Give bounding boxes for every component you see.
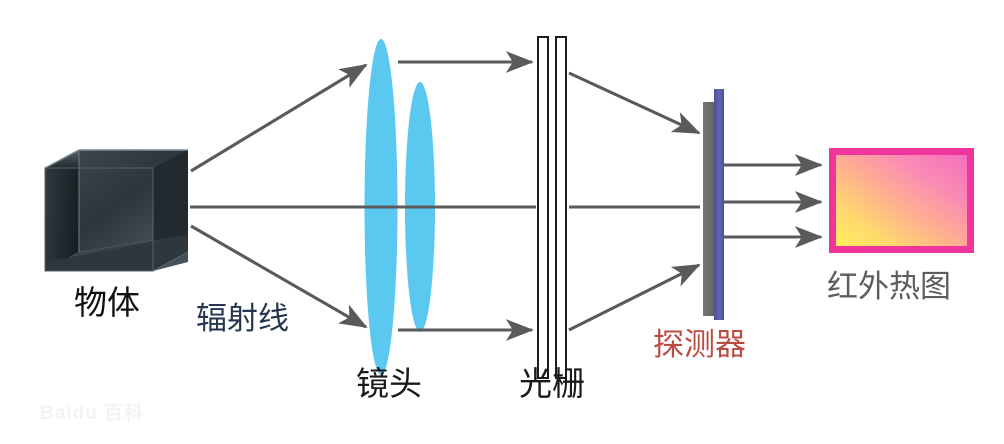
thermal-image	[829, 148, 974, 253]
object-cube	[45, 150, 188, 271]
label-detector: 探测器	[653, 329, 746, 360]
infrared-imaging-diagram	[0, 0, 1004, 444]
thermal-image-gradient	[836, 155, 967, 246]
diagram-canvas: 物体 辐射线 镜头 光栅 探测器 红外热图 Baidu 百科	[0, 0, 1004, 444]
ray-group-grating-detector	[569, 73, 700, 330]
grating-plate-1	[538, 37, 548, 378]
label-radiation: 辐射线	[196, 303, 289, 334]
label-grating: 光栅	[519, 367, 585, 400]
label-thermal-image: 红外热图	[827, 271, 951, 302]
grating-assembly	[538, 37, 566, 378]
grating-plate-2	[556, 37, 566, 378]
ray-group-detector-image	[723, 165, 821, 237]
detector-assembly	[703, 89, 724, 320]
ray-grating-to-detector-bottom	[569, 265, 699, 330]
label-lens: 镜头	[356, 367, 422, 400]
detector-sensor-bar	[714, 89, 724, 320]
label-object: 物体	[74, 286, 140, 319]
ray-object-to-lens-top	[191, 65, 366, 171]
ray-grating-to-detector-top	[569, 73, 699, 133]
baidu-baike-watermark: Baidu 百科	[40, 398, 168, 428]
